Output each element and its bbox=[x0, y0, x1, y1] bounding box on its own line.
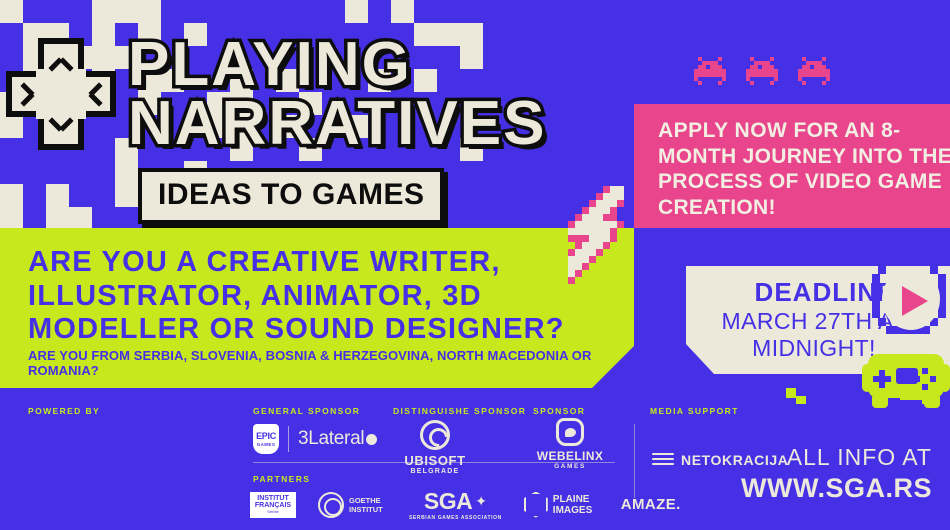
space-invader-icon bbox=[742, 57, 782, 91]
bolt-pixel bbox=[582, 221, 589, 228]
partner-logo-row: INSTITUT FRANÇAIS Serbie GOETHE INSTITUT… bbox=[250, 488, 681, 521]
bolt-outline-pixel bbox=[610, 214, 617, 221]
bolt-pixel bbox=[582, 242, 589, 249]
checker-pixel bbox=[0, 184, 23, 207]
caption-media-support: MEDIA SUPPORT bbox=[650, 406, 739, 416]
all-info-label: ALL INFO AT bbox=[741, 444, 932, 471]
title-line-1: PLAYING bbox=[128, 36, 648, 93]
goethe-ring-icon bbox=[318, 492, 344, 518]
checker-pixel bbox=[115, 184, 138, 207]
lightning-bolt-icon bbox=[568, 186, 660, 298]
bolt-outline-pixel bbox=[617, 200, 624, 207]
bolt-pixel bbox=[589, 242, 596, 249]
logo-amaze: AMAZE. bbox=[621, 496, 681, 513]
poster-canvas: PLAYING NARRATIVES IDEAS TO GAMES APPLY … bbox=[0, 0, 950, 530]
bolt-pixel bbox=[589, 214, 596, 221]
checker-pixel bbox=[391, 0, 414, 23]
dpad-icon bbox=[6, 38, 116, 150]
logo-ubisoft: UBISOFT BELGRADE bbox=[393, 420, 477, 475]
bolt-pixel bbox=[582, 249, 589, 256]
call-headline: ARE YOU A CREATIVE WRITER, ILLUSTRATOR, … bbox=[28, 246, 628, 347]
bolt-pixel bbox=[589, 249, 596, 256]
play-triangle-icon bbox=[902, 286, 928, 316]
checker-pixel bbox=[46, 184, 69, 207]
bolt-outline-pixel bbox=[596, 193, 603, 200]
bolt-pixel bbox=[568, 256, 575, 263]
bolt-pixel bbox=[589, 221, 596, 228]
bolt-pixel bbox=[610, 193, 617, 200]
bolt-pixel bbox=[603, 207, 610, 214]
logo-sga: SGA ✦ SERBIAN GAMES ASSOCIATION bbox=[409, 488, 502, 521]
bolt-pixel bbox=[596, 235, 603, 242]
bolt-pixel bbox=[596, 200, 603, 207]
caption-partners: PARTNERS bbox=[253, 474, 310, 484]
bolt-pixel bbox=[568, 228, 575, 235]
partners-divider bbox=[253, 462, 615, 463]
apply-text: APPLY NOW FOR AN 8-MONTH JOURNEY INTO TH… bbox=[658, 118, 950, 220]
checker-pixel bbox=[345, 0, 368, 23]
checker-pixel bbox=[46, 207, 69, 230]
title-line-2: NARRATIVES bbox=[128, 95, 648, 152]
bolt-pixel bbox=[589, 235, 596, 242]
bolt-pixel bbox=[603, 193, 610, 200]
space-invader-icon bbox=[794, 57, 834, 91]
checker-pixel bbox=[69, 207, 92, 230]
bolt-pixel bbox=[582, 256, 589, 263]
bolt-pixel bbox=[617, 193, 624, 200]
bolt-pixel bbox=[610, 200, 617, 207]
bolt-outline-pixel bbox=[610, 207, 617, 214]
netokracija-flag-icon bbox=[652, 453, 674, 467]
subtitle-text: IDEAS TO GAMES bbox=[158, 178, 424, 211]
bolt-pixel bbox=[596, 207, 603, 214]
ubisoft-swirl-icon bbox=[420, 420, 450, 450]
caption-powered-by: POWERED BY bbox=[28, 406, 100, 416]
bolt-outline-pixel bbox=[575, 214, 582, 221]
bolt-pixel bbox=[610, 221, 617, 228]
bolt-outline-pixel bbox=[603, 214, 610, 221]
bolt-pixel bbox=[568, 270, 575, 277]
checker-pixel bbox=[299, 0, 322, 23]
bolt-pixel bbox=[596, 214, 603, 221]
play-button-icon bbox=[872, 258, 950, 342]
bolt-pixel bbox=[575, 249, 582, 256]
bolt-outline-pixel bbox=[610, 228, 617, 235]
bolt-outline-pixel bbox=[582, 263, 589, 270]
logo-epic-games: EPIC GAMES bbox=[253, 424, 279, 454]
call-subline: ARE YOU FROM SERBIA, SLOVENIA, BOSNIA & … bbox=[28, 348, 618, 378]
bolt-pixel bbox=[575, 256, 582, 263]
bolt-outline-pixel bbox=[575, 235, 582, 242]
bolt-pixel bbox=[596, 228, 603, 235]
bolt-outline-pixel bbox=[568, 277, 575, 284]
website-url[interactable]: WWW.SGA.RS bbox=[741, 473, 932, 504]
subtitle-box: IDEAS TO GAMES bbox=[138, 168, 444, 224]
bolt-outline-pixel bbox=[582, 207, 589, 214]
plaine-hex-icon bbox=[524, 492, 548, 518]
bolt-outline-pixel bbox=[610, 235, 617, 242]
space-invader-icon-group bbox=[690, 57, 840, 99]
logo-general-sponsors: EPIC GAMES 3Lateral bbox=[253, 424, 377, 454]
bolt-outline-pixel bbox=[603, 186, 610, 193]
logo-plaine-images: PLAINE IMAGES bbox=[524, 492, 599, 518]
bolt-pixel bbox=[610, 186, 617, 193]
checker-pixel bbox=[0, 207, 23, 230]
bolt-outline-pixel bbox=[575, 242, 582, 249]
sga-star-icon: ✦ bbox=[475, 493, 487, 510]
bolt-pixel bbox=[603, 200, 610, 207]
bolt-pixel bbox=[596, 221, 603, 228]
logo-institut-francais: INSTITUT FRANÇAIS Serbie bbox=[250, 492, 296, 518]
lateral-dot-icon bbox=[366, 434, 377, 445]
caption-general-sponsor: GENERAL SPONSOR bbox=[253, 406, 360, 416]
bolt-pixel bbox=[603, 228, 610, 235]
bolt-pixel bbox=[589, 228, 596, 235]
bolt-outline-pixel bbox=[603, 242, 610, 249]
webelinx-mark-icon bbox=[556, 418, 584, 446]
bolt-outline-pixel bbox=[589, 256, 596, 263]
bolt-pixel bbox=[568, 263, 575, 270]
bolt-pixel bbox=[589, 207, 596, 214]
bolt-outline-pixel bbox=[568, 221, 575, 228]
caption-sponsor: SPONSOR bbox=[533, 406, 585, 416]
bolt-pixel bbox=[596, 242, 603, 249]
bolt-pixel bbox=[603, 221, 610, 228]
bolt-outline-pixel bbox=[596, 249, 603, 256]
all-info-block: ALL INFO AT WWW.SGA.RS bbox=[741, 444, 932, 504]
bolt-outline-pixel bbox=[617, 221, 624, 228]
bolt-outline-pixel bbox=[589, 200, 596, 207]
bolt-pixel bbox=[603, 235, 610, 242]
apply-now-highlight: APPLY NOW bbox=[658, 119, 787, 142]
checker-pixel bbox=[115, 161, 138, 184]
bolt-outline-pixel bbox=[568, 235, 575, 242]
bolt-outline-pixel bbox=[575, 270, 582, 277]
logo-divider bbox=[288, 426, 289, 452]
bolt-pixel bbox=[575, 263, 582, 270]
bolt-pixel bbox=[575, 228, 582, 235]
bolt-pixel bbox=[582, 228, 589, 235]
footer-vertical-divider bbox=[634, 424, 635, 498]
bolt-pixel bbox=[617, 186, 624, 193]
bolt-pixel bbox=[582, 214, 589, 221]
page-title: PLAYING NARRATIVES bbox=[128, 36, 648, 152]
logo-3lateral: 3Lateral bbox=[298, 428, 377, 450]
footer: POWERED BY U UNREAL ENGINE DEUTSCH - FRA… bbox=[0, 388, 950, 530]
bolt-outline-pixel bbox=[582, 235, 589, 242]
logo-goethe-institut: GOETHE INSTITUT bbox=[318, 492, 387, 518]
bolt-outline-pixel bbox=[568, 249, 575, 256]
caption-distinguished-sponsor: DISTINGUISHE SPONSOR bbox=[393, 406, 526, 416]
space-invader-icon bbox=[690, 57, 730, 91]
bolt-pixel bbox=[575, 221, 582, 228]
